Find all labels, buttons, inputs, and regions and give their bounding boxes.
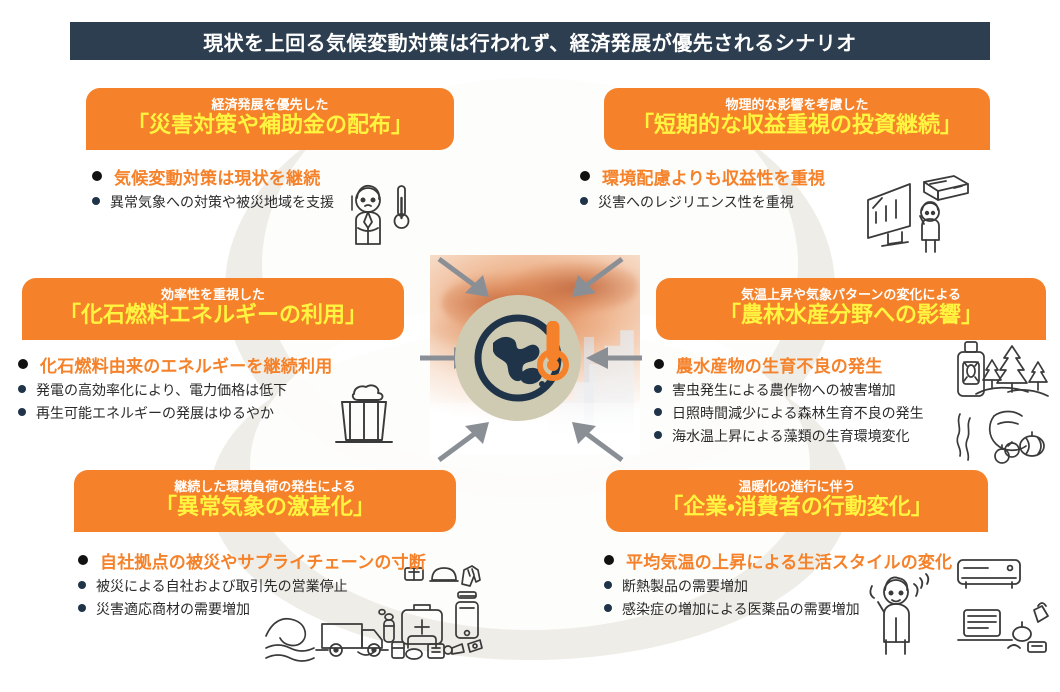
bullet-text: 断熱製品の需要増加 bbox=[622, 576, 748, 596]
bullet-dot-icon bbox=[604, 604, 612, 612]
bullet-dot-icon bbox=[654, 408, 662, 416]
bullet-text: 海水温上昇による藻類の生育環境変化 bbox=[672, 426, 910, 446]
panel-bullets-top-right: 環境配慮よりも収益性を重視 災害へのレジリエンス性を重視 bbox=[580, 164, 825, 215]
bullet-dot-icon bbox=[18, 385, 26, 393]
panel-bullets-top-left: 気候変動対策は現状を継続 異常気象への対策や被災地域を支援 bbox=[92, 164, 334, 215]
thermometer-icon bbox=[533, 321, 573, 383]
bullet-dot-icon bbox=[78, 555, 88, 565]
list-item: 化石燃料由来のエネルギーを継続利用 bbox=[18, 352, 332, 377]
arrow-inward-right bbox=[582, 345, 644, 371]
page-title-bar: 現状を上回る気候変動対策は行われず、経済発展が優先されるシナリオ bbox=[70, 22, 990, 60]
list-item: 災害適応商材の需要増加 bbox=[78, 599, 426, 619]
panel-subheading: 気温上昇や気象パターンの変化による bbox=[741, 288, 961, 303]
list-item: 被災による自社および取引先の営業停止 bbox=[78, 576, 426, 596]
bullet-dot-icon bbox=[18, 359, 28, 369]
panel-subheading: 経済発展を優先した bbox=[211, 98, 328, 113]
bullet-text: 農水産物の生育不良の発生 bbox=[676, 352, 882, 377]
center-globe-group bbox=[455, 295, 581, 421]
list-item: 環境配慮よりも収益性を重視 bbox=[580, 164, 825, 189]
bullet-dot-icon bbox=[18, 408, 26, 416]
bullet-dot-icon bbox=[580, 197, 588, 205]
bullet-text: 化石燃料由来のエネルギーを継続利用 bbox=[40, 352, 332, 377]
list-item: 自社拠点の被災やサプライチェーンの寸断 bbox=[78, 548, 426, 573]
panel-subheading: 温暖化の進行に伴う bbox=[738, 480, 855, 495]
bullet-text: 災害へのレジリエンス性を重視 bbox=[598, 192, 794, 212]
bullet-dot-icon bbox=[580, 171, 590, 181]
list-item: 平均気温の上昇による生活スタイルの変化 bbox=[604, 548, 952, 573]
bullet-dot-icon bbox=[654, 431, 662, 439]
panel-bullets-bottom-right: 平均気温の上昇による生活スタイルの変化 断熱製品の需要増加 感染症の増加による医… bbox=[604, 548, 952, 622]
spray-forest-harvest-seaweed-icon bbox=[950, 338, 1056, 466]
bullet-dot-icon bbox=[654, 385, 662, 393]
panel-bullets-middle-left: 化石燃料由来のエネルギーを継続利用 発電の高効率化により、電力価格は低下 再生可… bbox=[18, 352, 332, 426]
panel-bullets-middle-right: 農水産物の生育不良の発生 害虫発生による農作物への被害増加 日照時間減少による森… bbox=[654, 352, 924, 449]
panel-header-middle-left[interactable]: 効率性を重視した 「化石燃料エネルギーの利用」 bbox=[22, 278, 404, 340]
bullet-dot-icon bbox=[604, 581, 612, 589]
bullet-dot-icon bbox=[92, 171, 102, 181]
bullet-text: 気候変動対策は現状を継続 bbox=[114, 164, 320, 189]
bullet-dot-icon bbox=[654, 359, 664, 369]
arrow-inward-bottom-right bbox=[560, 418, 626, 464]
list-item: 災害へのレジリエンス性を重視 bbox=[580, 192, 825, 212]
panel-header-top-left[interactable]: 経済発展を優先した 「災害対策や補助金の配布」 bbox=[86, 88, 454, 150]
panel-heading: 「異常気象の激甚化」 bbox=[155, 495, 375, 520]
panel-heading: 「災害対策や補助金の配布」 bbox=[127, 113, 413, 138]
panel-subheading: 継続した環境負荷の発生による bbox=[174, 480, 356, 495]
bullet-text: 平均気温の上昇による生活スタイルの変化 bbox=[626, 548, 952, 573]
list-item: 害虫発生による農作物への被害増加 bbox=[654, 380, 924, 400]
bullet-dot-icon bbox=[92, 197, 100, 205]
panel-heading: 「農林水産分野への影響」 bbox=[719, 303, 983, 328]
bullet-dot-icon bbox=[604, 555, 614, 565]
list-item: 再生可能エネルギーの発展はゆるやか bbox=[18, 403, 332, 423]
list-item: 海水温上昇による藻類の生育環境変化 bbox=[654, 426, 924, 446]
panel-header-top-right[interactable]: 物理的な影響を考慮した 「短期的な収益重視の投資継続」 bbox=[604, 88, 990, 150]
bullet-text: 再生可能エネルギーの発展はゆるやか bbox=[36, 403, 274, 423]
bullet-text: 災害適応商材の需要増加 bbox=[96, 599, 250, 619]
list-item: 日照時間減少による森林生育不良の発生 bbox=[654, 403, 924, 423]
panel-subheading: 物理的な影響を考慮した bbox=[725, 98, 868, 113]
bullet-text: 環境配慮よりも収益性を重視 bbox=[602, 164, 825, 189]
list-item: 農水産物の生育不良の発生 bbox=[654, 352, 924, 377]
bullet-text: 自社拠点の被災やサプライチェーンの寸断 bbox=[100, 548, 426, 573]
list-item: 異常気象への対策や被災地域を支援 bbox=[92, 192, 334, 212]
list-item: 断熱製品の需要増加 bbox=[604, 576, 952, 596]
bullet-text: 発電の高効率化により、電力価格は低下 bbox=[36, 380, 287, 400]
panel-heading: 「短期的な収益重視の投資継続」 bbox=[632, 113, 962, 138]
bullet-text: 害虫発生による農作物への被害増加 bbox=[672, 380, 896, 400]
arrow-inward-bottom-left bbox=[435, 418, 501, 464]
bullet-text: 日照時間減少による森林生育不良の発生 bbox=[672, 403, 924, 423]
bullet-text: 異常気象への対策や被災地域を支援 bbox=[110, 192, 334, 212]
infographic-canvas: 現状を上回る気候変動対策は行われず、経済発展が優先されるシナリオ bbox=[0, 0, 1060, 692]
panel-heading: 「化石燃料エネルギーの利用」 bbox=[59, 303, 367, 328]
panel-header-middle-right[interactable]: 気温上昇や気象パターンの変化による 「農林水産分野への影響」 bbox=[656, 278, 1046, 340]
panel-bullets-bottom-left: 自社拠点の被災やサプライチェーンの寸断 被災による自社および取引先の営業停止 災… bbox=[78, 548, 426, 622]
list-item: 気候変動対策は現状を継続 bbox=[92, 164, 334, 189]
panel-header-bottom-right[interactable]: 温暖化の進行に伴う 「企業・消費者の行動変化」 bbox=[606, 470, 988, 532]
cooling-tower-icon bbox=[320, 380, 406, 450]
bullet-text: 被災による自社および取引先の営業停止 bbox=[96, 576, 348, 596]
bullet-dot-icon bbox=[78, 581, 86, 589]
monitor-chart-cash-person-icon bbox=[862, 168, 1032, 254]
list-item: 感染症の増加による医薬品の需要増加 bbox=[604, 599, 952, 619]
panel-header-bottom-left[interactable]: 継続した環境負荷の発生による 「異常気象の激甚化」 bbox=[74, 470, 456, 532]
businessman-thermometer-icon bbox=[330, 178, 422, 256]
list-item: 発電の高効率化により、電力価格は低下 bbox=[18, 380, 332, 400]
bullet-text: 感染症の増加による医薬品の需要増加 bbox=[622, 599, 860, 619]
panel-heading: 「企業・消費者の行動変化」 bbox=[661, 495, 932, 520]
bullet-dot-icon bbox=[78, 604, 86, 612]
panel-subheading: 効率性を重視した bbox=[161, 288, 265, 303]
page-title: 現状を上回る気候変動対策は行われず、経済発展が優先されるシナリオ bbox=[203, 27, 857, 56]
